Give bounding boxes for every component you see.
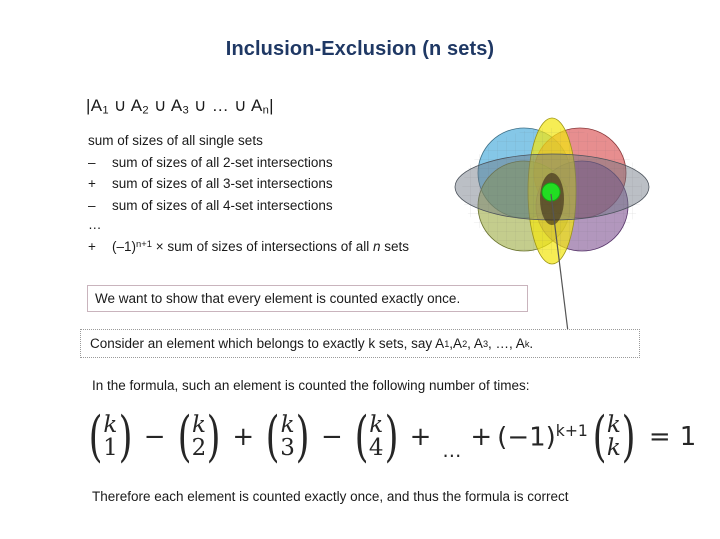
equation-operator-2: + bbox=[232, 422, 254, 452]
equation-sign-exponent: k+1 bbox=[556, 422, 588, 440]
binomial-rparen-4: ) bbox=[384, 416, 398, 458]
bullet-nset-suffix: sets bbox=[381, 239, 410, 254]
bullet-nset-times: × sum of sizes of intersections of all bbox=[152, 239, 373, 254]
list-item: + (–1)n+1 × sum of sizes of intersection… bbox=[88, 234, 488, 257]
consider-prefix: Consider an element which belongs to exa… bbox=[90, 336, 444, 351]
formula-intro-text: In the formula, such an element is count… bbox=[92, 378, 529, 393]
binomial-stack-4: k 4 bbox=[369, 414, 384, 461]
equation-result: 1 bbox=[680, 422, 697, 452]
binomial-stack-5: k k bbox=[607, 414, 621, 461]
binomial-term-2: ( k 2 ) bbox=[174, 414, 225, 461]
bullet-text-ellipsis: … bbox=[88, 216, 103, 234]
page-title: Inclusion-Exclusion (n sets) bbox=[0, 38, 720, 61]
binomial-term-5: ( k k ) bbox=[589, 414, 639, 461]
binomial-term-1: ( k 1 ) bbox=[85, 414, 136, 461]
bullet-sign-plus-nset: + bbox=[88, 236, 112, 258]
binomial-top-5: k bbox=[607, 414, 621, 437]
binomial-bottom-5: k bbox=[607, 437, 621, 460]
venn-diagram bbox=[452, 96, 652, 276]
equation-operator-1: − bbox=[144, 422, 166, 452]
binomial-term-4: ( k 4 ) bbox=[351, 414, 402, 461]
slide-canvas: Inclusion-Exclusion (n sets) |A1 ∪ A2 ∪ … bbox=[0, 0, 720, 539]
consider-sep-2: , A bbox=[467, 336, 483, 351]
binomial-lparen-2: ( bbox=[177, 416, 191, 458]
binomial-bottom-3: 3 bbox=[280, 437, 295, 460]
binomial-top-3: k bbox=[281, 414, 295, 437]
callout-box-show-once-text: We want to show that every element is co… bbox=[95, 291, 460, 306]
equation-operator-3: − bbox=[321, 422, 343, 452]
binomial-term-3: ( k 3 ) bbox=[262, 414, 313, 461]
list-item-ellipsis: … bbox=[88, 216, 488, 234]
binomial-top-1: k bbox=[103, 414, 117, 437]
binomial-lparen-1: ( bbox=[89, 416, 103, 458]
bullet-sign-plus-3set: + bbox=[88, 173, 112, 195]
binomial-rparen-1: ) bbox=[118, 416, 132, 458]
binomial-lparen-5: ( bbox=[592, 416, 606, 458]
inclusion-exclusion-terms-list: sum of sizes of all single sets – sum of… bbox=[88, 130, 488, 257]
binomial-stack-1: k 1 bbox=[103, 414, 118, 461]
list-item: – sum of sizes of all 4-set intersection… bbox=[88, 195, 488, 217]
callout-box-show-once: We want to show that every element is co… bbox=[87, 285, 528, 312]
equation-operator-4: + bbox=[410, 422, 432, 452]
binomial-stack-2: k 2 bbox=[192, 414, 207, 461]
union-term-a1: A bbox=[91, 96, 103, 115]
list-item: + sum of sizes of all 3-set intersection… bbox=[88, 173, 488, 195]
binomial-stack-3: k 3 bbox=[280, 414, 295, 461]
bullet-text-3set: sum of sizes of all 3-set intersections bbox=[112, 173, 333, 195]
equation-operator-5: + bbox=[470, 422, 492, 452]
bullet-text-4set: sum of sizes of all 4-set intersections bbox=[112, 195, 333, 217]
list-item: sum of sizes of all single sets bbox=[88, 130, 488, 152]
union-expression: |A1 ∪ A2 ∪ A3 ∪ … ∪ An| bbox=[86, 96, 274, 116]
bullet-text-nset: (–1)n+1 × sum of sizes of intersections … bbox=[112, 234, 409, 257]
binomial-bottom-4: 4 bbox=[369, 437, 384, 460]
venn-element-dot bbox=[542, 183, 560, 201]
conclusion-text: Therefore each element is counted exactl… bbox=[92, 489, 569, 504]
venn-diagram-svg bbox=[452, 96, 652, 276]
binomial-identity-equation: ( k 1 ) − ( k 2 ) + ( k 3 ) − bbox=[84, 406, 696, 468]
binomial-lparen-4: ( bbox=[354, 416, 368, 458]
binomial-bottom-2: 2 bbox=[192, 437, 207, 460]
union-ellipsis: … bbox=[212, 96, 229, 115]
equation-ellipsis: … bbox=[442, 440, 461, 468]
union-op-1: ∪ bbox=[109, 96, 131, 115]
binomial-top-4: k bbox=[369, 414, 383, 437]
union-term-an: A bbox=[251, 96, 263, 115]
bullet-text-single-sets: sum of sizes of all single sets bbox=[88, 130, 263, 152]
bullet-text-2set: sum of sizes of all 2-set intersections bbox=[112, 152, 333, 174]
binomial-lparen-3: ( bbox=[266, 416, 280, 458]
equation-equals-sign: = bbox=[649, 422, 671, 452]
binomial-bottom-1: 1 bbox=[103, 437, 118, 460]
union-op-3: ∪ bbox=[189, 96, 212, 115]
consider-end: . bbox=[529, 336, 533, 351]
callout-box-consider-element: Consider an element which belongs to exa… bbox=[80, 329, 640, 358]
bullet-nset-exponent: n+1 bbox=[136, 239, 152, 250]
bullet-sign-minus-4set: – bbox=[88, 195, 112, 217]
list-item: – sum of sizes of all 2-set intersection… bbox=[88, 152, 488, 174]
equation-sign-term: (−1)k+1 bbox=[497, 422, 588, 453]
binomial-top-2: k bbox=[192, 414, 206, 437]
union-op-2: ∪ bbox=[149, 96, 171, 115]
union-op-4: ∪ bbox=[229, 96, 251, 115]
union-term-a2: A bbox=[131, 96, 143, 115]
consider-sep-1: ,A bbox=[449, 336, 462, 351]
bullet-sign-minus-2set: – bbox=[88, 152, 112, 174]
binomial-rparen-3: ) bbox=[295, 416, 309, 458]
union-close-bar: | bbox=[269, 96, 274, 115]
union-term-a3: A bbox=[171, 96, 183, 115]
equation-sign-base: (−1) bbox=[497, 422, 556, 452]
consider-sep-3: , …, A bbox=[488, 336, 525, 351]
bullet-nset-prefix: (–1) bbox=[112, 239, 136, 254]
bullet-nset-italic-n: n bbox=[373, 239, 381, 254]
binomial-rparen-5: ) bbox=[621, 416, 635, 458]
binomial-rparen-2: ) bbox=[207, 416, 221, 458]
